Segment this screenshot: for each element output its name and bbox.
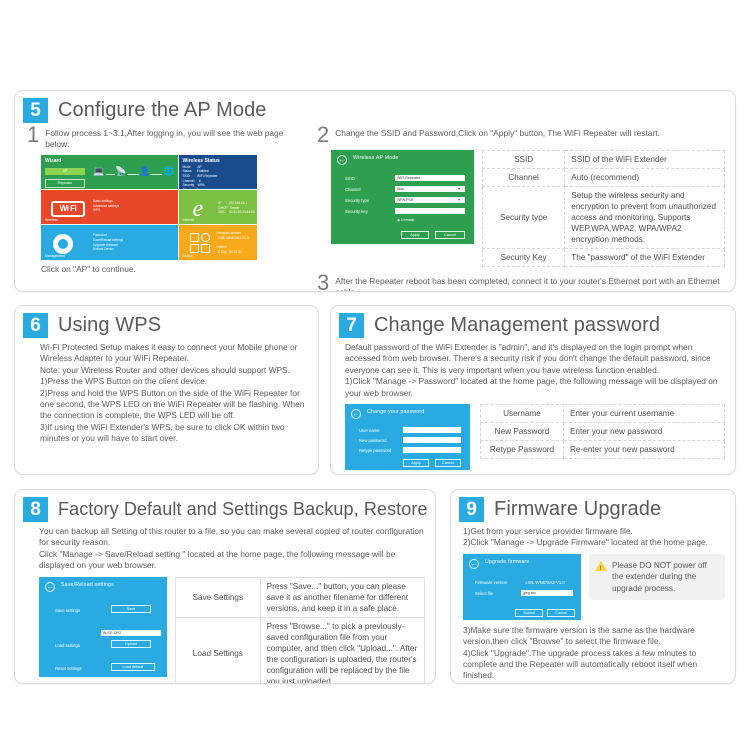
section-6-card: 6 Using WPS Wi-Fi Protected Setup makes … xyxy=(14,305,319,475)
password-intro: Default password of the WiFi Extender is… xyxy=(345,342,725,376)
step-2-text: Change the SSID and Password,Click on "A… xyxy=(335,128,725,139)
row-key: Security type xyxy=(483,187,565,249)
firmware-version-value: v.WL-WN575A2-V1.0 xyxy=(525,580,565,585)
section-8-badge: 8 xyxy=(23,497,48,522)
section-5-step-2: 2 Change the SSID and Password,Click on … xyxy=(317,125,725,145)
power-off-warning: Please DO NOT power off the extender dur… xyxy=(589,554,725,600)
tile-wizard-title: Wizard xyxy=(45,158,61,164)
router-dashboard-mock: Wizard AP Repeater 💻 📡 👤 🌐 xyxy=(41,155,257,260)
row-key: Channel xyxy=(483,169,565,187)
table-row: Load Settings Press "Browse..." to pick … xyxy=(176,617,425,684)
section-8-title: Factory Default and Settings Backup, Res… xyxy=(58,499,428,520)
section-9-card: 9 Firmware Upgrade 1)Get from your servi… xyxy=(450,489,736,684)
firmware-step-1: 1)Get from your service provider firmwar… xyxy=(463,526,725,537)
unmask-label: Unmask xyxy=(401,218,414,222)
section-5-card: 5 Configure the AP Mode 1 Follow process… xyxy=(14,90,736,292)
row-value: SSID of the WiFi Extender xyxy=(565,151,725,169)
ap-field-label-ssid: SSID xyxy=(345,176,355,181)
section-5-title: Configure the AP Mode xyxy=(58,99,267,122)
section-5-step-1: 1 Follow process 1~3.1,After logging in,… xyxy=(27,125,305,292)
backup-intro-1: You can backup all Setting of this route… xyxy=(39,526,425,549)
row-key: Retype Password xyxy=(481,441,564,459)
step-1-text: Follow process 1~3.1,After logging in, y… xyxy=(45,128,305,151)
password-label-retype: Retype password xyxy=(359,448,391,453)
row-value: Setup the wireless security and encrypti… xyxy=(565,187,725,249)
chevron-down-icon: ▾ xyxy=(458,186,472,192)
section-9-body: 1)Get from your service provider firmwar… xyxy=(451,524,735,684)
wifi-icon: Wi Fi xyxy=(51,201,85,217)
tile-device-lines: Firmware version v.WL-WN575A2-V1.0 Uptim… xyxy=(217,231,257,259)
ap-panel-title: Wireless AP Mode xyxy=(353,155,398,161)
section-9-badge: 9 xyxy=(459,497,484,522)
tile-device[interactable]: Firmware version v.WL-WN575A2-V1.0 Uptim… xyxy=(179,225,257,259)
tile-status-title: Wireless Status xyxy=(183,158,220,164)
backup-intro-2: Click "Manage -> Save/Reload setting " l… xyxy=(39,549,425,572)
wps-line-3: 1)Press the WPS Button on the client dev… xyxy=(40,376,308,387)
row-value: Press "Save..." button, you can please s… xyxy=(260,577,424,617)
section-7-card: 7 Change Management password Default pas… xyxy=(330,305,736,475)
ap-field-label-channel: Channel xyxy=(345,187,361,192)
password-step-2: 2)Click Save to save the settings. xyxy=(345,474,725,475)
tile-wireless-status[interactable]: Wireless Status Mode AP Status Enabled S… xyxy=(179,155,257,189)
firmware-file-label: Select file xyxy=(475,591,493,596)
router-icon: 📡 xyxy=(115,167,126,176)
section-5-step-3: 3 After the Repeater reboot has been com… xyxy=(317,273,725,292)
topology-flow: 💻 📡 👤 🌐 xyxy=(93,167,178,181)
row-key: Save Settings xyxy=(176,577,261,617)
section-5-badge: 5 xyxy=(23,98,48,123)
section-5-right-column: 2 Change the SSID and Password,Click on … xyxy=(305,125,725,292)
load-settings-button[interactable]: Upload xyxy=(111,640,151,648)
tile-repeater-button[interactable]: Repeater xyxy=(45,179,85,188)
firmware-step-3: 3)Make sure the firmware version is the … xyxy=(463,625,725,648)
reset-settings-button[interactable]: Load default xyxy=(111,663,155,671)
table-row: Retype Password Re-enter your new passwo… xyxy=(481,441,725,459)
tile-management-caption: Management xyxy=(45,254,65,258)
password-input-new[interactable] xyxy=(403,437,461,443)
password-step-1: 1)Click "Manage -> Password" located at … xyxy=(345,376,725,399)
ap-field-label-security-key: Security key xyxy=(345,209,368,214)
table-row: Username Enter your current username xyxy=(481,405,725,423)
password-input-username[interactable] xyxy=(403,427,461,433)
row-key: Load Settings xyxy=(176,617,261,684)
back-arrow-icon[interactable]: ← xyxy=(469,559,479,569)
section-7-header: 7 Change Management password xyxy=(331,306,735,340)
save-settings-label: Save settings xyxy=(55,608,80,613)
password-apply-button[interactable]: Apply xyxy=(403,459,429,467)
save-reload-settings-panel: ← Save/Reload settings Save settings Sav… xyxy=(39,577,167,677)
ap-field-select-channel[interactable]: Auto xyxy=(395,186,465,192)
step-3-text: After the Repeater reboot has been compl… xyxy=(335,276,725,292)
ap-field-input-ssid[interactable]: WiFi-Repeater xyxy=(395,175,465,181)
tile-status-lines: Mode AP Status Enabled SSID WiFi-Repeate… xyxy=(183,165,218,189)
tile-device-caption: Device xyxy=(183,254,193,258)
warning-triangle-icon xyxy=(595,561,607,571)
upgrade-firmware-panel: ← Upgrade firmware Firmware version v.WL… xyxy=(463,554,581,620)
save-panel-title: Save/Reload settings xyxy=(61,582,114,588)
wps-note: Note: your Wireless Router and other dev… xyxy=(40,365,308,376)
table-row: Save Settings Press "Save..." button, yo… xyxy=(176,577,425,617)
section-8-card: 8 Factory Default and Settings Backup, R… xyxy=(14,489,436,684)
section-9-title: Firmware Upgrade xyxy=(494,498,661,521)
row-key: Username xyxy=(481,405,564,423)
step-number: 3 xyxy=(317,273,329,292)
tile-internet-caption: Internet xyxy=(183,218,195,222)
ap-settings-table: SSID SSID of the WiFi Extender Channel A… xyxy=(482,150,725,267)
firmware-submit-button[interactable]: Submit xyxy=(515,609,543,617)
section-8-header: 8 Factory Default and Settings Backup, R… xyxy=(15,490,435,524)
password-fields-table: Username Enter your current username New… xyxy=(480,404,725,459)
section-6-badge: 6 xyxy=(23,313,48,338)
tile-wireless[interactable]: Wi Fi Basic settings Advanced settings W… xyxy=(41,190,178,224)
ap-apply-button[interactable]: Apply xyxy=(401,231,429,239)
table-row: Security Key The "password" of the WiFi … xyxy=(483,249,725,267)
wireless-ap-mode-panel: ← Wireless AP Mode SSID WiFi-Repeater Ch… xyxy=(331,150,474,244)
warning-text: Please DO NOT power off the extender dur… xyxy=(612,560,717,594)
firmware-version-label: Firmware version xyxy=(475,580,507,585)
table-row: SSID SSID of the WiFi Extender xyxy=(483,151,725,169)
section-6-header: 6 Using WPS xyxy=(15,306,318,340)
tile-internet-lines: IP 192.168.16.1 DHCP Server MAC 00:11:22… xyxy=(219,201,255,215)
row-key: SSID xyxy=(483,151,565,169)
ap-field-input-security-key[interactable] xyxy=(395,208,465,214)
firmware-step-4: 4)Click "Upgrade".The upgrade process ta… xyxy=(463,648,725,682)
section-5-header: 5 Configure the AP Mode xyxy=(15,91,735,125)
chevron-down-icon: ▾ xyxy=(458,197,472,203)
antenna-icon: 👤 xyxy=(139,167,150,176)
row-value: Press "Browse..." to pick a previously-s… xyxy=(260,617,424,684)
section-6-title: Using WPS xyxy=(58,314,161,337)
section-7-badge: 7 xyxy=(339,313,364,338)
wps-line-1: Wi-Fi Protected Setup makes it easy to c… xyxy=(40,342,308,365)
ap-field-select-security-type[interactable]: WPA-PSK xyxy=(395,197,465,203)
back-arrow-icon[interactable]: ← xyxy=(45,582,55,592)
internet-explorer-icon: e xyxy=(193,197,204,221)
row-key: New Password xyxy=(481,423,564,441)
wps-line-4: 2)Press and hold the WPS Button on the s… xyxy=(40,388,308,422)
change-password-panel: ← Change your password User name New pas… xyxy=(345,404,470,470)
load-settings-file-field[interactable]: ALSG.CFG xyxy=(101,630,161,636)
unmask-radio[interactable]: ◉ Unmask xyxy=(397,218,414,222)
section-6-body: Wi-Fi Protected Setup makes it easy to c… xyxy=(15,340,318,451)
reset-settings-label: Reset settings xyxy=(55,666,82,671)
row-value: Auto (recommend) xyxy=(565,169,725,187)
row-value: Enter your current username xyxy=(563,405,724,423)
tile-wizard[interactable]: Wizard AP Repeater 💻 📡 👤 🌐 xyxy=(41,155,178,189)
password-cancel-button[interactable]: Cancel xyxy=(435,459,461,467)
section-7-title: Change Management password xyxy=(374,314,660,337)
load-settings-label: Load settings xyxy=(55,643,80,648)
table-row: New Password Enter your new password xyxy=(481,423,725,441)
table-row: Channel Auto (recommend) xyxy=(483,169,725,187)
section-8-body: You can backup all Setting of this route… xyxy=(15,524,435,684)
firmware-cancel-button[interactable]: Cancel xyxy=(547,609,575,617)
tile-wireless-caption: Wireless xyxy=(45,218,58,222)
row-value: Re-enter your new password xyxy=(563,441,724,459)
row-value: Enter your new password xyxy=(563,423,724,441)
back-arrow-icon[interactable]: ← xyxy=(351,409,361,419)
backup-settings-table: Save Settings Press "Save..." button, yo… xyxy=(175,577,425,684)
tile-management[interactable]: Password Save/Reload settings Upgrade fi… xyxy=(41,225,178,259)
step-number: 1 xyxy=(27,125,39,151)
tile-wireless-lines: Basic settings Advanced settings WPS xyxy=(93,199,119,213)
password-input-retype[interactable] xyxy=(403,447,461,453)
save-settings-button[interactable]: Save xyxy=(111,605,151,613)
manual-page: 5 Configure the AP Mode 1 Follow process… xyxy=(0,0,750,750)
row-key: Security Key xyxy=(483,249,565,267)
tile-management-lines: Password Save/Reload settings Upgrade fi… xyxy=(93,233,123,251)
firmware-file-input[interactable]: jpeg.bin xyxy=(521,590,573,596)
password-label-username: User name xyxy=(359,428,379,433)
section-7-body: Default password of the WiFi Extender is… xyxy=(331,340,735,475)
wps-line-5: 3)If using the WiFi Extender's WPS, be s… xyxy=(40,422,308,445)
password-panel-title: Change your password xyxy=(367,409,424,415)
step-number: 2 xyxy=(317,125,329,145)
table-row: Security type Setup the wireless securit… xyxy=(483,187,725,249)
password-label-new: New password xyxy=(359,438,386,443)
section-5-step-1-caption: Click on "AP" to continue. xyxy=(41,264,305,274)
ap-field-label-security-type: Security type xyxy=(345,198,369,203)
tile-internet[interactable]: e IP 192.168.16.1 DHCP Server MAC 00:11:… xyxy=(179,190,257,224)
ap-cancel-button[interactable]: Cancel xyxy=(435,231,465,239)
gear-icon xyxy=(53,234,73,254)
row-value: The "password" of the WiFi Extender xyxy=(565,249,725,267)
firmware-step-2: 2)Click "Manage -> Upgrade Firmware" loc… xyxy=(463,537,725,548)
back-arrow-icon[interactable]: ← xyxy=(337,155,347,165)
globe-icon: 🌐 xyxy=(163,167,174,176)
firmware-panel-title: Upgrade firmware xyxy=(485,559,529,565)
laptop-icon: 💻 xyxy=(93,167,104,176)
section-9-header: 9 Firmware Upgrade xyxy=(451,490,735,524)
tile-ap-button[interactable]: AP xyxy=(45,168,85,175)
